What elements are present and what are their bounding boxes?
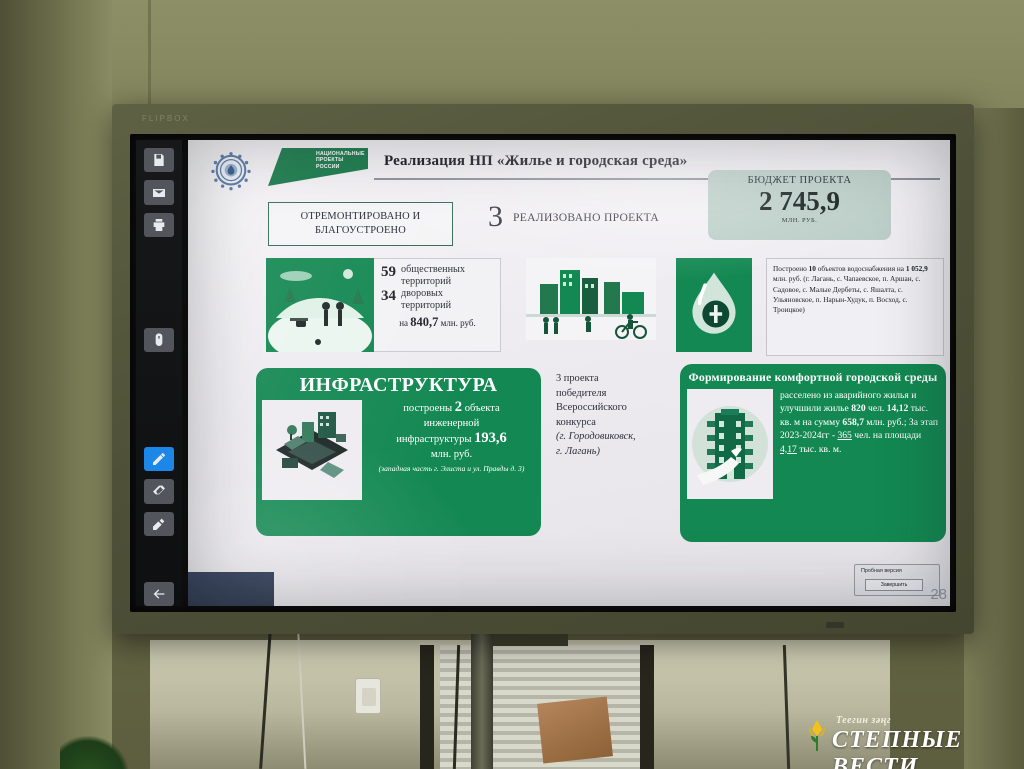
watermark-main-text: СТЕПНЫЕ ВЕСТИ — [832, 727, 1016, 769]
print-tool-button[interactable] — [144, 213, 174, 237]
water-supply-text: Построено 10 объектов водоснабжения на 1… — [766, 258, 944, 356]
infra-objects-count: 2 — [455, 399, 462, 415]
watermark-kalmyk-text: Теегин зәңг — [836, 715, 891, 726]
slide-page-number: 28 — [930, 586, 947, 603]
kalmykia-emblem-icon — [210, 150, 252, 192]
door-frame-right — [640, 645, 654, 769]
sum-unit: млн. руб. — [441, 318, 476, 328]
wall-socket — [355, 678, 381, 714]
territory-row: 59 общественных территорий — [381, 264, 494, 288]
interactive-display: FLIPBOX — [112, 104, 974, 634]
back-tool-button[interactable] — [144, 582, 174, 606]
ir-sensor — [826, 622, 844, 628]
infra-built-word: построены — [403, 403, 452, 414]
comfort-t7: тыс. кв. м. — [799, 444, 841, 455]
tulip-icon — [804, 717, 830, 753]
infra-line-3: инфраструктуры 193,6 — [368, 431, 535, 447]
comfort-stage-people: 365 — [837, 430, 851, 441]
infrastructure-card: ИНФРАСТРУКТУРА — [256, 368, 541, 536]
printer-icon — [151, 217, 167, 233]
sum-prefix: на — [399, 318, 408, 328]
bottom-blue-bar — [188, 572, 274, 606]
repaired-box: ОТРЕМОНТИРОВАНО И БЛАГОУСТРОЕНО — [268, 202, 453, 246]
territory-label: дворовых территорий — [401, 288, 494, 312]
comfort-environment-card: Формирование комфортной городской среды — [680, 364, 946, 542]
comfort-illustration — [687, 389, 773, 499]
door-frame-left — [420, 645, 434, 769]
contest-line-6: г. Лагань) — [556, 446, 600, 457]
clear-tool-button[interactable] — [144, 512, 174, 536]
comfort-stage-area: 4,17 — [780, 444, 797, 455]
display-stand-column — [555, 630, 575, 769]
watermark: Теегин зәңг СТЕПНЫЕ ВЕСТИ — [800, 709, 1016, 761]
territories-text: 59 общественных территорий 34 дворовых т… — [374, 258, 501, 352]
eraser-tool-button[interactable] — [144, 479, 174, 503]
infra-line-4: млн. руб. — [368, 447, 535, 462]
trial-dialog[interactable]: Пробная версия Завершить — [854, 564, 940, 596]
comfort-text: расселено из аварийного жилья и улучшили… — [780, 389, 939, 499]
save-tool-button[interactable] — [144, 148, 174, 172]
territory-count: 59 — [381, 264, 396, 281]
comfort-area: 14,12 — [887, 403, 909, 414]
budget-caption: БЮДЖЕТ ПРОЕКТА — [708, 175, 891, 186]
pen-tool-button[interactable] — [144, 447, 174, 471]
water-line2-a: водоснабжения на — [847, 264, 904, 273]
infra-objects-word: объекта — [465, 403, 500, 414]
badge-label: НАЦИОНАЛЬНЫЕ ПРОЕКТЫ РОССИИ — [316, 151, 366, 170]
pen-icon — [151, 451, 167, 467]
water-amount: 1 052,9 — [906, 264, 928, 273]
mouse-icon — [151, 332, 167, 348]
wooden-board — [537, 697, 613, 764]
sum-value: 840,7 — [410, 315, 438, 329]
territory-count: 34 — [381, 288, 396, 305]
budget-unit: МЛН. РУБ. — [708, 217, 891, 224]
budget-value: 2 745,9 — [708, 186, 891, 217]
water-line1-c: объектов — [818, 264, 846, 273]
city-people-icon — [526, 258, 656, 340]
water-drop-card — [676, 258, 752, 352]
wall-seam — [148, 0, 151, 110]
infrastructure-heading: ИНФРАСТРУКТУРА — [262, 374, 535, 397]
display-stand-column — [471, 630, 493, 769]
comfort-sum: 658,7 — [842, 417, 864, 428]
left-wall — [0, 0, 112, 769]
contest-winners-text: 3 проекта победителя Всероссийского конк… — [556, 372, 666, 459]
infrastructure-illustration — [262, 400, 362, 500]
envelope-icon — [151, 185, 167, 201]
comfort-t2: чел. — [868, 403, 884, 414]
pointer-tool-button[interactable] — [144, 328, 174, 352]
infrastructure-body: построены 2 объекта инженерной инфрастру… — [262, 400, 535, 500]
trial-dialog-title: Пробная версия — [855, 565, 939, 574]
park-scene-icon — [266, 258, 374, 352]
comfort-heading: Формирование комфортной городской среды — [687, 370, 939, 385]
contest-line-1: 3 проекта — [556, 372, 666, 387]
infra-note: (западная часть г. Элиста и ул. Правды д… — [368, 464, 535, 474]
realized-count: 3 — [488, 202, 503, 232]
water-drop-icon — [685, 269, 743, 341]
park-illustration — [266, 258, 374, 352]
realized-label: РЕАЛИЗОВАНО ПРОЕКТА — [513, 210, 659, 225]
back-arrow-icon — [151, 586, 167, 602]
trial-dialog-finish-button[interactable]: Завершить — [865, 579, 923, 591]
infrastructure-text: построены 2 объекта инженерной инфрастру… — [368, 400, 535, 500]
eraser-icon — [151, 483, 167, 499]
national-projects-badge: НАЦИОНАЛЬНЫЕ ПРОЕКТЫ РОССИИ — [268, 148, 368, 186]
device-brand-label: FLIPBOX — [142, 114, 190, 123]
water-line2-c: млн. руб. — [773, 274, 801, 283]
comfort-people-total: 820 — [851, 403, 865, 414]
comfort-t6: чел. на площади — [854, 430, 921, 441]
infra-line-1: построены 2 объекта — [368, 400, 535, 416]
realized-projects: 3 РЕАЛИЗОВАНО ПРОЕКТА — [488, 202, 678, 232]
territory-label: общественных территорий — [401, 264, 494, 288]
water-objects-count: 10 — [809, 264, 816, 273]
territories-sum: на 840,7 млн. руб. — [381, 315, 494, 330]
comfort-t4: млн. руб.; — [866, 417, 906, 428]
water-line1-a: Построено — [773, 264, 807, 273]
infra-line-2: инженерной — [368, 416, 535, 431]
slide-title: Реализация НП «Жилье и городская среда» — [384, 153, 940, 170]
presentation-slide[interactable]: НАЦИОНАЛЬНЫЕ ПРОЕКТЫ РОССИИ Реализация Н… — [188, 140, 950, 606]
infra-amount: 193,6 — [474, 430, 507, 446]
potted-plant — [60, 735, 130, 769]
contest-line-3: Всероссийского — [556, 401, 666, 416]
contest-line-5: (г. Городовиковск, — [556, 431, 636, 442]
clear-brush-icon — [151, 516, 167, 532]
comfort-body: расселено из аварийного жилья и улучшили… — [687, 389, 939, 499]
upper-wall — [112, 0, 1024, 108]
territories-card: 59 общественных территорий 34 дворовых т… — [266, 258, 501, 352]
mail-tool-button[interactable] — [144, 180, 174, 204]
city-illustration — [526, 258, 656, 340]
contest-line-2: победителя — [556, 387, 666, 402]
infra-word: инфраструктуры — [396, 434, 471, 445]
budget-card: БЮДЖЕТ ПРОЕКТА 2 745,9 МЛН. РУБ. — [708, 170, 891, 240]
isometric-city-icon — [262, 400, 362, 500]
display-toolbar — [136, 140, 182, 606]
territory-row: 34 дворовых территорий — [381, 288, 494, 312]
display-screen: НАЦИОНАЛЬНЫЕ ПРОЕКТЫ РОССИИ Реализация Н… — [130, 134, 956, 612]
contest-line-4: конкурса — [556, 416, 666, 431]
floppy-disk-icon — [151, 152, 167, 168]
apartment-hand-icon — [687, 389, 773, 499]
